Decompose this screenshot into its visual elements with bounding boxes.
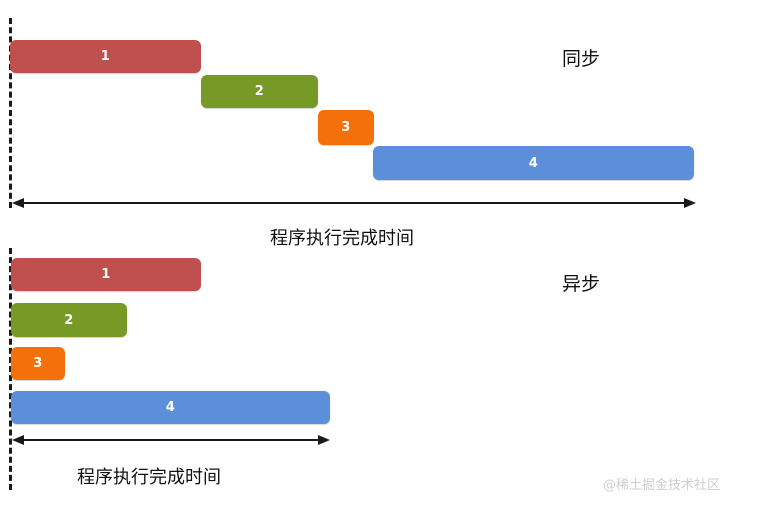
sync-task-bar-1: 1: [10, 40, 201, 73]
sync-task-bar-2: 2: [201, 75, 318, 108]
async-task-bar-4: 4: [11, 391, 330, 424]
sync-task-bar-1-label: 1: [101, 49, 111, 64]
sync-task-bar-3: 3: [318, 110, 374, 145]
async-duration-caption: 程序执行完成时间: [77, 463, 221, 489]
async-task-bar-1-label: 1: [101, 267, 111, 282]
sync-task-bar-2-label: 2: [255, 84, 265, 99]
sync-task-bar-4-label: 4: [529, 156, 539, 171]
async-task-bar-1: 1: [11, 258, 201, 291]
sync-section-label: 同步: [562, 44, 600, 71]
async-task-bar-2-label: 2: [64, 313, 74, 328]
sync-task-bar-3-label: 3: [341, 120, 351, 135]
watermark: @稀土掘金技术社区: [603, 474, 720, 493]
async-task-bar-4-label: 4: [166, 400, 176, 415]
sync-duration-caption: 程序执行完成时间: [270, 224, 414, 250]
async-task-bar-3: 3: [11, 347, 65, 380]
async-task-bar-2: 2: [11, 303, 127, 337]
async-section-label: 异步: [562, 269, 600, 296]
sync-duration-arrow: [12, 196, 696, 209]
async-duration-arrow: [12, 433, 330, 446]
diagram-canvas: 1 2 3 4 同步 程序执行完成时间 1 2 3 4 异步: [0, 0, 762, 511]
async-task-bar-3-label: 3: [33, 356, 43, 371]
sync-task-bar-4: 4: [373, 146, 694, 180]
